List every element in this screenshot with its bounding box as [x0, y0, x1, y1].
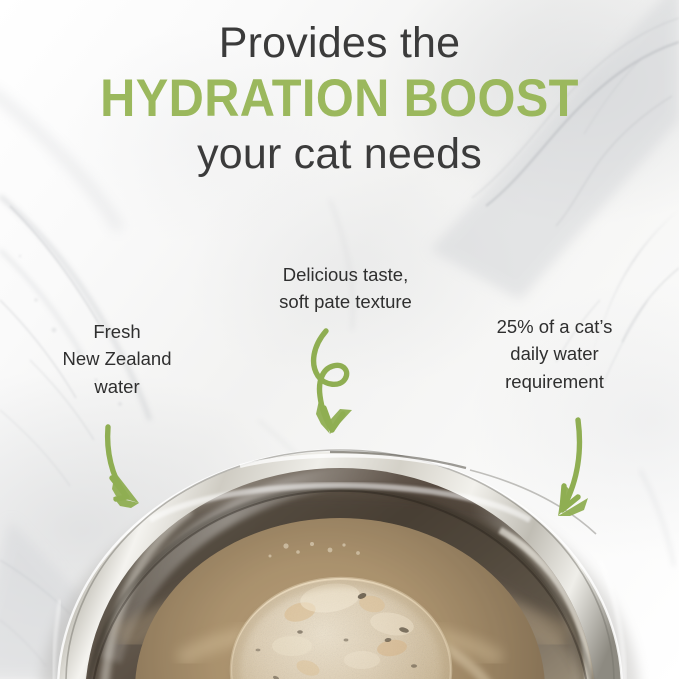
callout-text-taste-texture: Delicious taste, soft pate texture — [243, 261, 448, 316]
headline-line-2-accent: HYDRATION BOOST — [27, 72, 652, 125]
headline: Provides the HYDRATION BOOST your cat ne… — [0, 22, 679, 176]
promo-image: Provides the HYDRATION BOOST your cat ne… — [0, 0, 679, 679]
callout-text-fresh-water: Fresh New Zealand water — [32, 318, 202, 400]
headline-line-1: Provides the — [0, 22, 679, 65]
callout-text-daily-water: 25% of a cat’s daily water requirement — [462, 313, 647, 395]
headline-line-3: your cat needs — [0, 133, 679, 176]
